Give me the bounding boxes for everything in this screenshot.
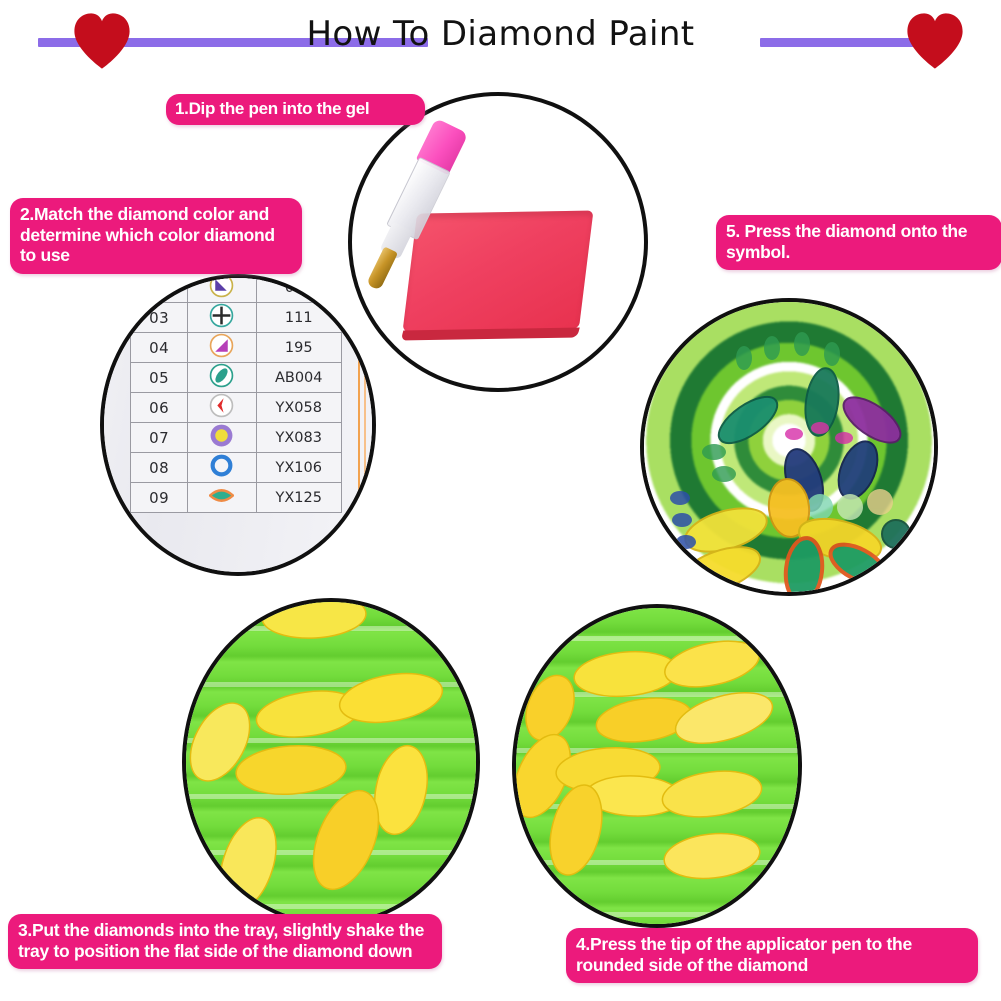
table-row: 05AB004 — [131, 363, 342, 393]
green-leaf-icon — [209, 483, 234, 508]
row-symbol — [188, 333, 256, 363]
row-symbol — [188, 483, 256, 513]
magenta-triangle-circle-icon — [209, 333, 234, 358]
photo-pen-picking-diamond — [512, 604, 802, 928]
row-symbol — [188, 303, 256, 333]
row-code: YX083 — [256, 423, 342, 453]
row-number: 03 — [131, 303, 188, 333]
photo-color-chart: 02002093031110419505AB00406YX05807YX0830… — [100, 274, 376, 576]
photo-pen-in-gel — [348, 92, 648, 392]
page-title: How To Diamond Paint — [0, 14, 1001, 54]
tray-diamonds — [186, 602, 476, 922]
row-code: YX106 — [256, 453, 342, 483]
row-symbol — [188, 423, 256, 453]
step-1-label: 1.Dip the pen into the gel — [166, 94, 425, 125]
header-banner: How To Diamond Paint — [0, 0, 1001, 80]
plus-circle-icon — [209, 303, 234, 328]
color-symbol-table: 02002093031110419505AB00406YX05807YX0830… — [130, 274, 342, 513]
table-row: 04195 — [131, 333, 342, 363]
paper-edge-line — [358, 274, 360, 576]
photo-pressing-onto-canvas — [640, 298, 938, 596]
step-5-label: 5. Press the diamond onto the symbol. — [716, 215, 1001, 270]
row-code: YX058 — [256, 393, 342, 423]
row-number: 07 — [131, 423, 188, 453]
table-row: 08YX106 — [131, 453, 342, 483]
row-number: 06 — [131, 393, 188, 423]
row-symbol — [188, 274, 256, 303]
row-symbol — [188, 363, 256, 393]
slash-oval-circle-icon — [209, 363, 234, 388]
row-number: 02 — [131, 274, 188, 303]
table-row: 07YX083 — [131, 423, 342, 453]
yellow-dot-circle-icon — [209, 423, 234, 448]
step-2-label: 2.Match the diamond color and determine … — [10, 198, 302, 274]
table-row: 09YX125 — [131, 483, 342, 513]
step-3-label: 3.Put the diamonds into the tray, slight… — [8, 914, 442, 969]
filled-triangle-circle-icon — [209, 274, 234, 298]
row-code: YX125 — [256, 483, 342, 513]
row-code: 195 — [256, 333, 342, 363]
photo-diamonds-in-tray — [182, 598, 480, 926]
canvas-gems — [644, 302, 934, 592]
blue-ring-circle-icon — [209, 453, 234, 478]
row-number: 04 — [131, 333, 188, 363]
table-row: 03111 — [131, 303, 342, 333]
tray-diamonds — [516, 608, 798, 924]
row-symbol — [188, 393, 256, 423]
paper-edge-line — [364, 274, 366, 576]
paper-edge-line — [100, 274, 102, 576]
row-number: 08 — [131, 453, 188, 483]
row-number: 05 — [131, 363, 188, 393]
row-code: 093 — [256, 274, 342, 303]
row-code: 111 — [256, 303, 342, 333]
left-arrow-circle-icon — [209, 393, 234, 418]
table-row: 02093 — [131, 274, 342, 303]
chart-paper: 02002093031110419505AB00406YX05807YX0830… — [100, 274, 376, 576]
table-row: 06YX058 — [131, 393, 342, 423]
row-symbol — [188, 453, 256, 483]
row-number: 09 — [131, 483, 188, 513]
step-4-label: 4.Press the tip of the applicator pen to… — [566, 928, 978, 983]
row-code: AB004 — [256, 363, 342, 393]
gel-pad — [403, 210, 594, 331]
